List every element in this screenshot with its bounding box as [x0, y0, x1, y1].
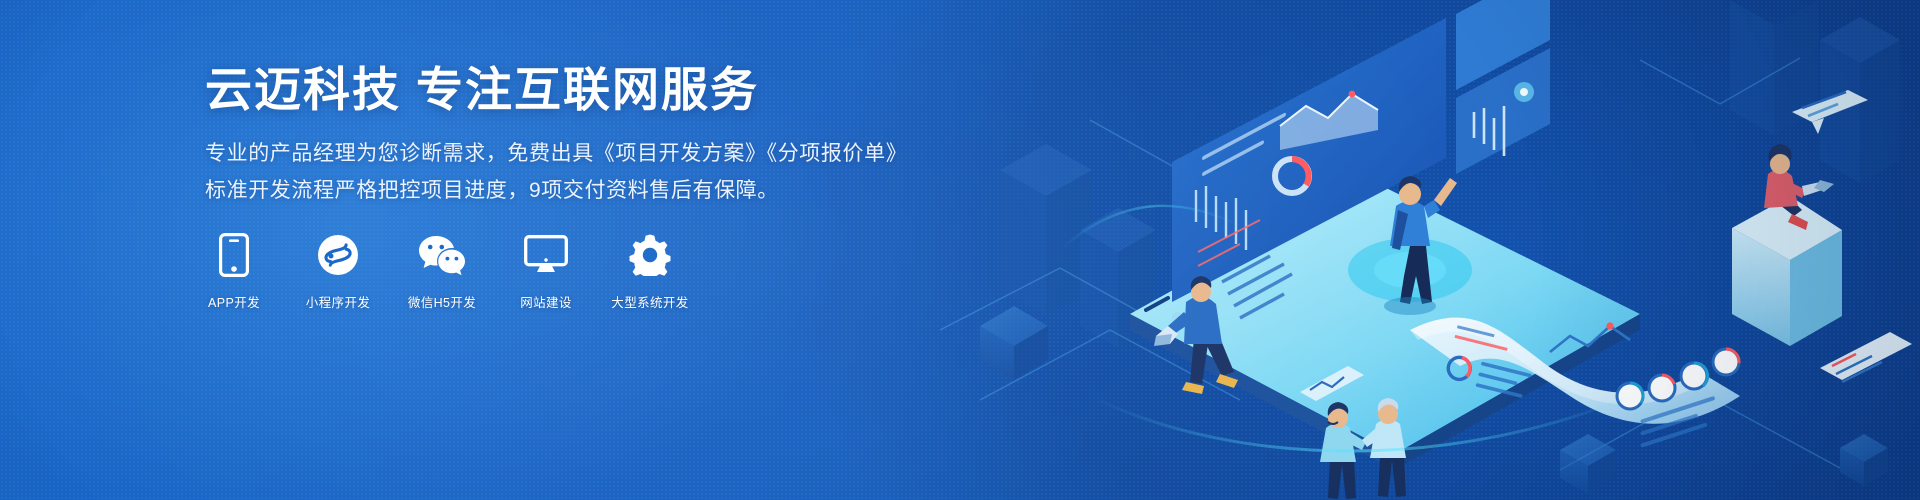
analytics-card-small [1820, 332, 1912, 382]
service-item-app[interactable]: APP开发 [205, 232, 263, 311]
banner-copy: 云迈科技 专注互联网服务 专业的产品经理为您诊断需求，免费出具《项目开发方案》《… [205, 62, 905, 210]
service-item-website[interactable]: 网站建设 [517, 232, 575, 311]
service-item-large-system[interactable]: 大型系统开发 [621, 232, 679, 311]
mini-program-icon [317, 232, 359, 278]
service-item-wechat-h5[interactable]: 微信H5开发 [413, 232, 471, 311]
mobile-phone-icon [219, 232, 249, 278]
service-label: 微信H5开发 [408, 292, 476, 311]
subtitle-line-2: 标准开发流程严格把控项目进度，9项交付资料售后有保障。 [205, 173, 905, 210]
service-label: APP开发 [208, 292, 260, 311]
gear-icon [629, 232, 671, 278]
monitor-icon [524, 232, 568, 278]
promo-banner: 云迈科技 专注互联网服务 专业的产品经理为您诊断需求，免费出具《项目开发方案》《… [0, 0, 1920, 500]
subtitle-line-1: 专业的产品经理为您诊断需求，免费出具《项目开发方案》《分项报价单》 [205, 136, 905, 173]
wechat-icon [418, 232, 466, 278]
service-item-miniprogram[interactable]: 小程序开发 [309, 232, 367, 311]
banner-subtitle: 专业的产品经理为您诊断需求，免费出具《项目开发方案》《分项报价单》 标准开发流程… [205, 136, 905, 210]
page-title: 云迈科技 专注互联网服务 [205, 62, 905, 118]
service-label: 网站建设 [520, 292, 572, 311]
service-label: 大型系统开发 [611, 292, 688, 311]
service-label: 小程序开发 [306, 292, 371, 311]
isometric-data-platform-illustration [940, 0, 1920, 500]
service-icon-row: APP开发 小程序开发 [205, 232, 679, 311]
